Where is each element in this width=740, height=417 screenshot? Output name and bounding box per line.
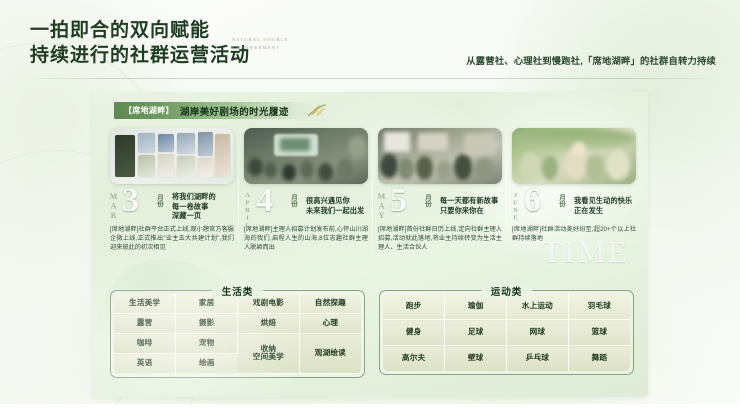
table-cell[interactable]: 舞蹈 [568,346,630,372]
page-title-line-1: 一拍即合的双向赋能 [30,18,250,43]
card-month-number: 6 [524,184,541,218]
table-cell[interactable]: 英语 [114,354,176,374]
card-divider [238,130,239,270]
table-cell[interactable]: 壁球 [445,346,507,372]
slide-footer [0,404,740,417]
table-cell[interactable]: 跑步 [383,294,445,320]
table-cell[interactable]: 生活美学 [114,294,176,314]
card-body-text: [席地湖畔]社群平台正式上线,观小憩官方客服企微上线,正式推出"业主五大共建计划… [110,225,234,253]
card-date-row: JUNE 6 月份 我看见生动的快乐 正在发生 [512,188,636,222]
category-table-frame: 跑步 瑜伽 水上运动 羽毛球 健身 足球 网球 篮球 高尔夫 [379,290,634,375]
table-row: 露营 摄影 烘焙 心理 [114,314,361,334]
card-month-en: MAY [378,192,385,221]
table-row: 咖啡 宠物 收纳 空间美学 观湖绘读 [114,334,361,354]
card-date-row: MAR 3 月份 将我们湖畔的 每一卷故事 深藏一页 [110,188,234,222]
card-month-cn: 月份 [423,194,431,207]
photo-seminar-audience [378,128,502,184]
card-body-text: [席地湖畔]首份社群日历上线,定向社群主理人招募,活动就此落地,将业主持续转变为… [378,225,502,253]
card-date-row: MAY 5 月份 每一天都有新故事 只要你来你在 [378,188,502,222]
timeline-card[interactable]: MAY 5 月份 每一天都有新故事 只要你来你在 [席地湖畔]首份社群日历上线,… [378,128,502,273]
card-body-text: [席地湖畔]主理人招募计划发布前,心怀山川湖海的我们,启程人生的山海,8位志趣社… [244,225,368,253]
category-table-sports: 运动类 跑步 瑜伽 水上运动 羽毛球 健身 足球 网球 篮 [379,284,634,378]
card-month-number: 5 [390,184,407,218]
category-table-frame: 生活美学 家居 戏剧电影 自然探趣 露营 摄影 烘焙 心理 咖啡 [110,290,365,378]
category-tables: 生活类 生活美学 家居 戏剧电影 自然探趣 露营 摄影 烘焙 [110,284,634,378]
card-divider [372,130,373,270]
table-cell[interactable]: 观湖绘读 [299,334,361,374]
card-date-badge: JUNE 6 月份 [512,188,574,222]
card-divider [506,130,507,270]
slide-canvas: 一拍即合的双向赋能 持续进行的社群运营活动 NATURAL DOUBLE EMP… [0,0,740,417]
slide-header: 一拍即合的双向赋能 持续进行的社群运营活动 NATURAL DOUBLE EMP… [0,0,740,86]
sparkle-leaf-icon [305,102,327,120]
card-month-cn: 月份 [289,194,297,207]
page-title-english: NATURAL DOUBLE EMPOWERMENT [232,36,312,52]
panel-leaf-decor [92,236,270,397]
card-photo [110,128,234,184]
page-title-english-line-1: NATURAL DOUBLE [232,36,312,44]
category-grid: 跑步 瑜伽 水上运动 羽毛球 健身 足球 网球 篮球 高尔夫 [383,294,630,371]
header-divider [24,78,716,79]
card-month-number: 3 [122,184,139,218]
table-cell[interactable]: 足球 [445,320,507,346]
table-cell[interactable]: 烘焙 [238,314,300,334]
card-month-cn: 月份 [557,194,565,207]
category-grid: 生活美学 家居 戏剧电影 自然探趣 露营 摄影 烘焙 心理 咖啡 [114,294,361,374]
table-cell[interactable]: 咖啡 [114,334,176,354]
card-photo [244,128,368,184]
content-panel: 【席地湖畔】 湖岸美好剧场的时光履迹 TIME [92,92,648,397]
photo-collage-app-screens [110,128,234,184]
card-month-en: APRIL [244,192,251,230]
photo-outdoor-park [512,128,636,184]
table-cell[interactable]: 收纳 空间美学 [238,334,300,374]
card-headline: 将我们湖畔的 每一卷故事 深藏一页 [172,188,234,221]
card-month-en: JUNE [512,192,519,222]
table-cell[interactable]: 健身 [383,320,445,346]
table-cell[interactable]: 绘画 [176,354,238,374]
category-table-title: 生活类 [212,284,264,298]
table-cell[interactable]: 心理 [299,314,361,334]
page-title-english-line-2: EMPOWERMENT [232,44,312,52]
card-date-badge: MAR 3 月份 [110,188,172,222]
table-cell[interactable]: 高尔夫 [383,346,445,372]
table-cell[interactable]: 宠物 [176,334,238,354]
timeline-card[interactable]: JUNE 6 月份 我看见生动的快乐 正在发生 [席地湖畔]社群活动美好纷至,超… [512,128,636,273]
card-month-number: 4 [256,184,273,218]
card-date-badge: MAY 5 月份 [378,188,440,222]
ribbon-brand-tag: 【席地湖畔】 [114,105,180,116]
card-date-row: APRIL 4 月份 很高兴遇见你 未来我们一起出发 [244,188,368,222]
table-cell[interactable]: 自然探趣 [299,294,361,314]
card-photo [378,128,502,184]
table-cell[interactable]: 露营 [114,314,176,334]
table-row: 高尔夫 壁球 乒乓球 舞蹈 [383,346,630,372]
table-cell[interactable]: 摄影 [176,314,238,334]
card-headline: 我看见生动的快乐 正在发生 [574,188,636,215]
card-month-cn: 月份 [155,194,163,207]
table-cell[interactable]: 羽毛球 [568,294,630,320]
card-month-en: MAR [110,192,117,221]
timeline-card-list: MAR 3 月份 将我们湖畔的 每一卷故事 深藏一页 [席地湖畔]社群平台正式上… [110,128,634,273]
page-title: 一拍即合的双向赋能 持续进行的社群运营活动 [30,18,250,68]
photo-indoor-meeting [244,128,368,184]
ribbon-title: 湖岸美好剧场的时光履迹 [180,104,289,118]
header-subtitle: 从露营社、心理社到慢跑社,「席地湖畔」的社群自转力持续 [466,53,716,67]
table-cell[interactable]: 网球 [507,320,569,346]
table-row: 健身 足球 网球 篮球 [383,320,630,346]
category-table-life: 生活类 生活美学 家居 戏剧电影 自然探趣 露营 摄影 烘焙 [110,284,365,378]
card-body-text: [席地湖畔]社群活动美好纷至,超20+个以上社群持续落地 [512,225,636,243]
page-title-line-2: 持续进行的社群运营活动 [30,43,250,68]
card-headline: 每一天都有新故事 只要你来你在 [440,188,502,215]
section-ribbon: 【席地湖畔】 湖岸美好剧场的时光履迹 [114,102,323,119]
category-table-title: 运动类 [481,284,533,298]
timeline-card[interactable]: APRIL 4 月份 很高兴遇见你 未来我们一起出发 [席地湖畔]主理人招募计划… [244,128,368,273]
table-cell[interactable]: 乒乓球 [507,346,569,372]
timeline-card[interactable]: MAR 3 月份 将我们湖畔的 每一卷故事 深藏一页 [席地湖畔]社群平台正式上… [110,128,234,273]
card-headline: 很高兴遇见你 未来我们一起出发 [306,188,368,215]
card-date-badge: APRIL 4 月份 [244,188,306,222]
card-photo [512,128,636,184]
table-cell[interactable]: 篮球 [568,320,630,346]
